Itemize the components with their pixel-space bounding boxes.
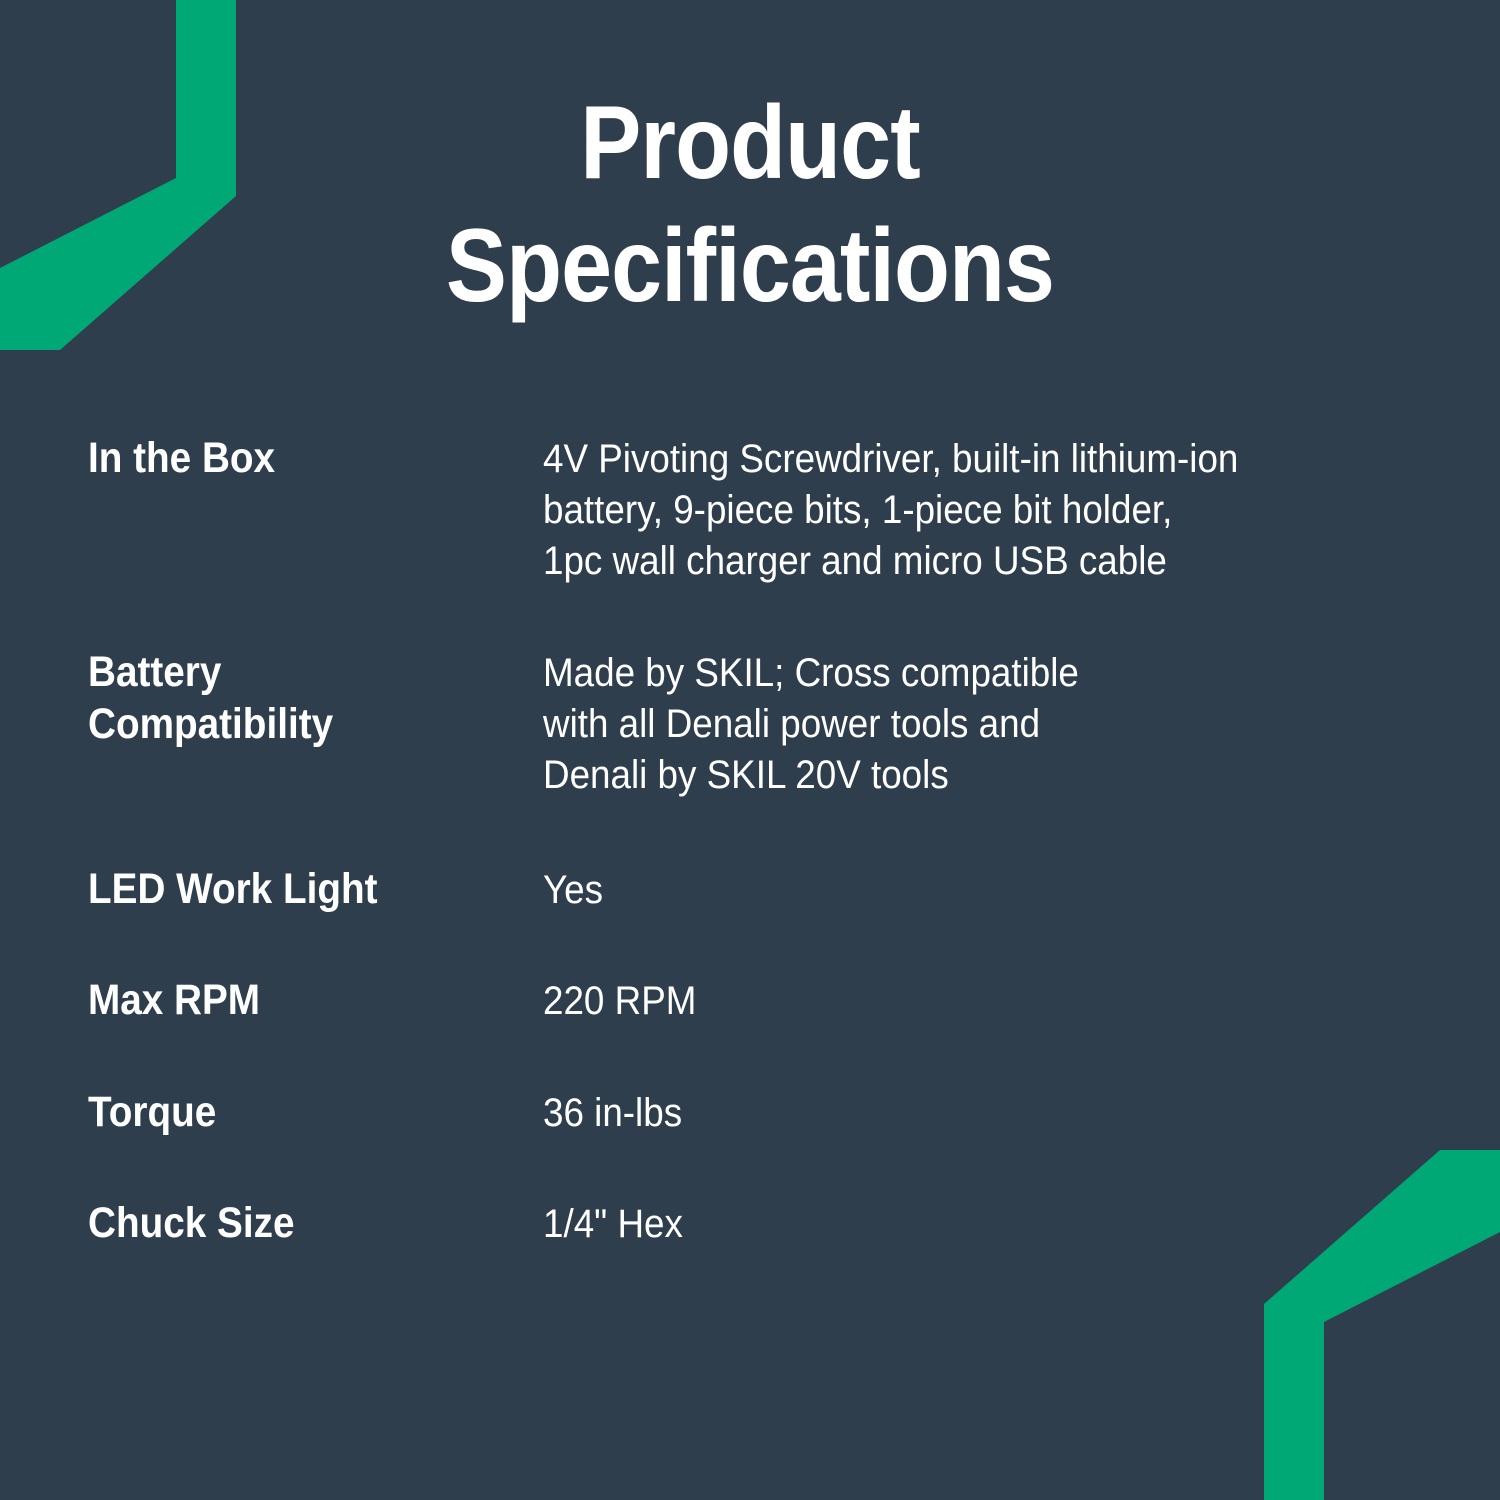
spec-value-torque: 36 in-lbs [543,1086,1357,1139]
spec-label-chuck-size: Chuck Size [88,1197,498,1249]
table-row: Chuck Size 1/4" Hex [88,1197,1428,1250]
table-row: Battery Compatibility Made by SKIL; Cros… [88,646,1428,802]
spec-label-in-the-box: In the Box [88,432,498,484]
spec-value-max-rpm: 220 RPM [543,974,1357,1027]
table-row: Max RPM 220 RPM [88,974,1428,1027]
table-row: LED Work Light Yes [88,863,1428,916]
table-row: Torque 36 in-lbs [88,1086,1428,1139]
spec-label-led-work-light: LED Work Light [88,863,498,915]
spec-value-in-the-box: 4V Pivoting Screwdriver, built-in lithiu… [543,432,1357,588]
spec-label-battery-compatibility: Battery Compatibility [88,646,498,751]
spec-label-torque: Torque [88,1086,498,1138]
spec-value-led-work-light: Yes [543,863,1357,916]
spec-value-chuck-size: 1/4" Hex [543,1197,1357,1250]
spec-label-max-rpm: Max RPM [88,974,498,1026]
specifications-table: In the Box 4V Pivoting Screwdriver, buil… [88,432,1428,1250]
page-title: Product Specifications [90,82,1410,327]
table-row: In the Box 4V Pivoting Screwdriver, buil… [88,432,1428,588]
product-specifications-page: Product Specifications In the Box 4V Piv… [0,0,1500,1500]
spec-value-battery-compatibility: Made by SKIL; Cross compatible with all … [543,646,1357,802]
